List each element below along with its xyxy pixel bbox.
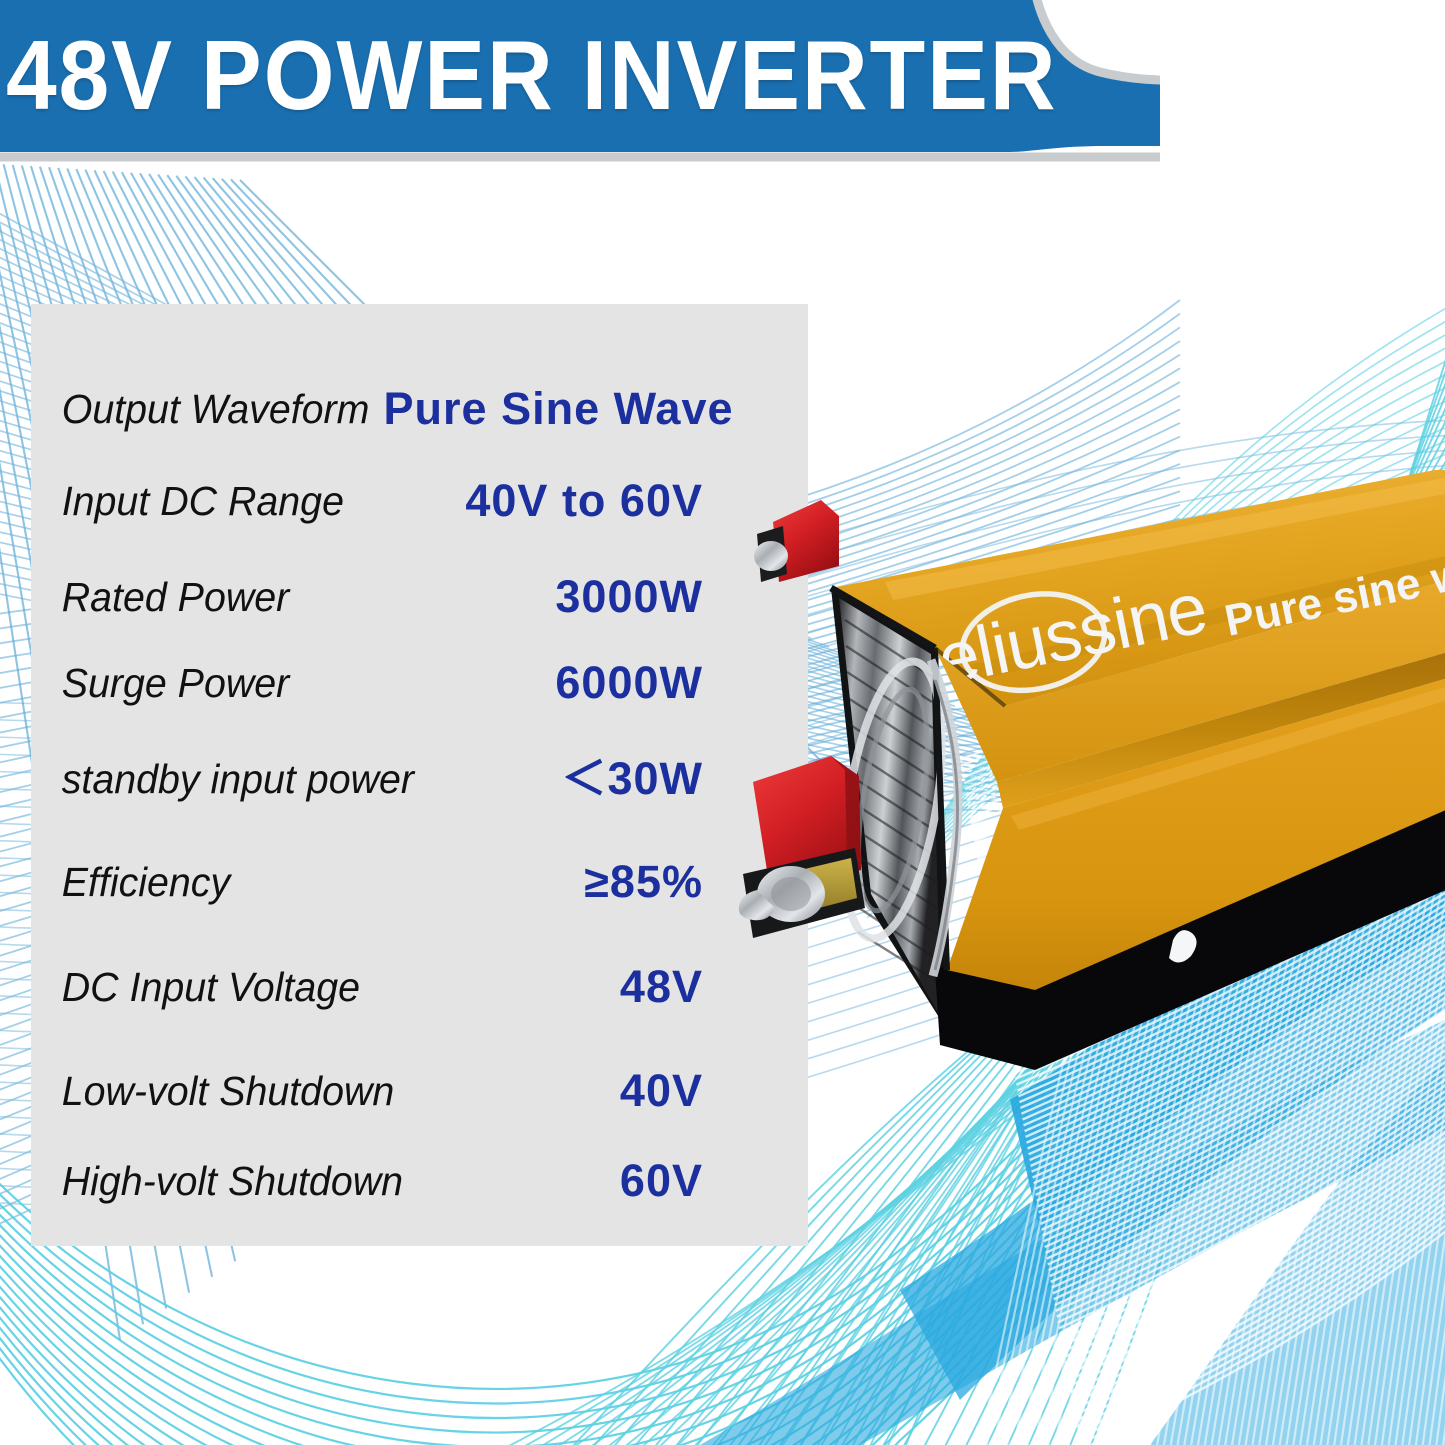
spec-row: DC Input Voltage48V — [31, 952, 808, 1022]
product-infographic: 48V POWER INVERTER Output WaveformPure S… — [0, 0, 1445, 1445]
spec-label: standby input power — [31, 756, 444, 802]
spec-row: High-volt Shutdown60V — [31, 1146, 808, 1216]
spec-row: standby input power＜30W — [31, 744, 808, 814]
spec-label: DC Input Voltage — [31, 964, 444, 1010]
spec-value: Pure Sine Wave — [384, 384, 839, 434]
spec-value: 60V — [461, 1156, 808, 1206]
spec-label: Output Waveform — [31, 386, 369, 432]
spec-row: Efficiency≥85% — [31, 847, 808, 917]
spec-row: Output WaveformPure Sine Wave — [31, 374, 808, 444]
spec-table: Output WaveformPure Sine WaveInput DC Ra… — [31, 304, 808, 1246]
spec-row: Rated Power3000W — [31, 562, 808, 632]
spec-row: Input DC Range40V to 60V — [31, 466, 808, 536]
page-title: 48V POWER INVERTER — [6, 20, 973, 130]
spec-label: High-volt Shutdown — [31, 1158, 444, 1204]
spec-label: Efficiency — [31, 859, 444, 905]
spec-row: Low-volt Shutdown40V — [31, 1056, 808, 1126]
product-image-inverter: aeliussine Pure sine w — [735, 470, 1445, 1150]
spec-label: Surge Power — [31, 660, 444, 706]
spec-label: Low-volt Shutdown — [31, 1068, 444, 1114]
spec-label: Input DC Range — [31, 478, 444, 524]
spec-row: Surge Power6000W — [31, 648, 808, 718]
spec-label: Rated Power — [31, 574, 444, 620]
